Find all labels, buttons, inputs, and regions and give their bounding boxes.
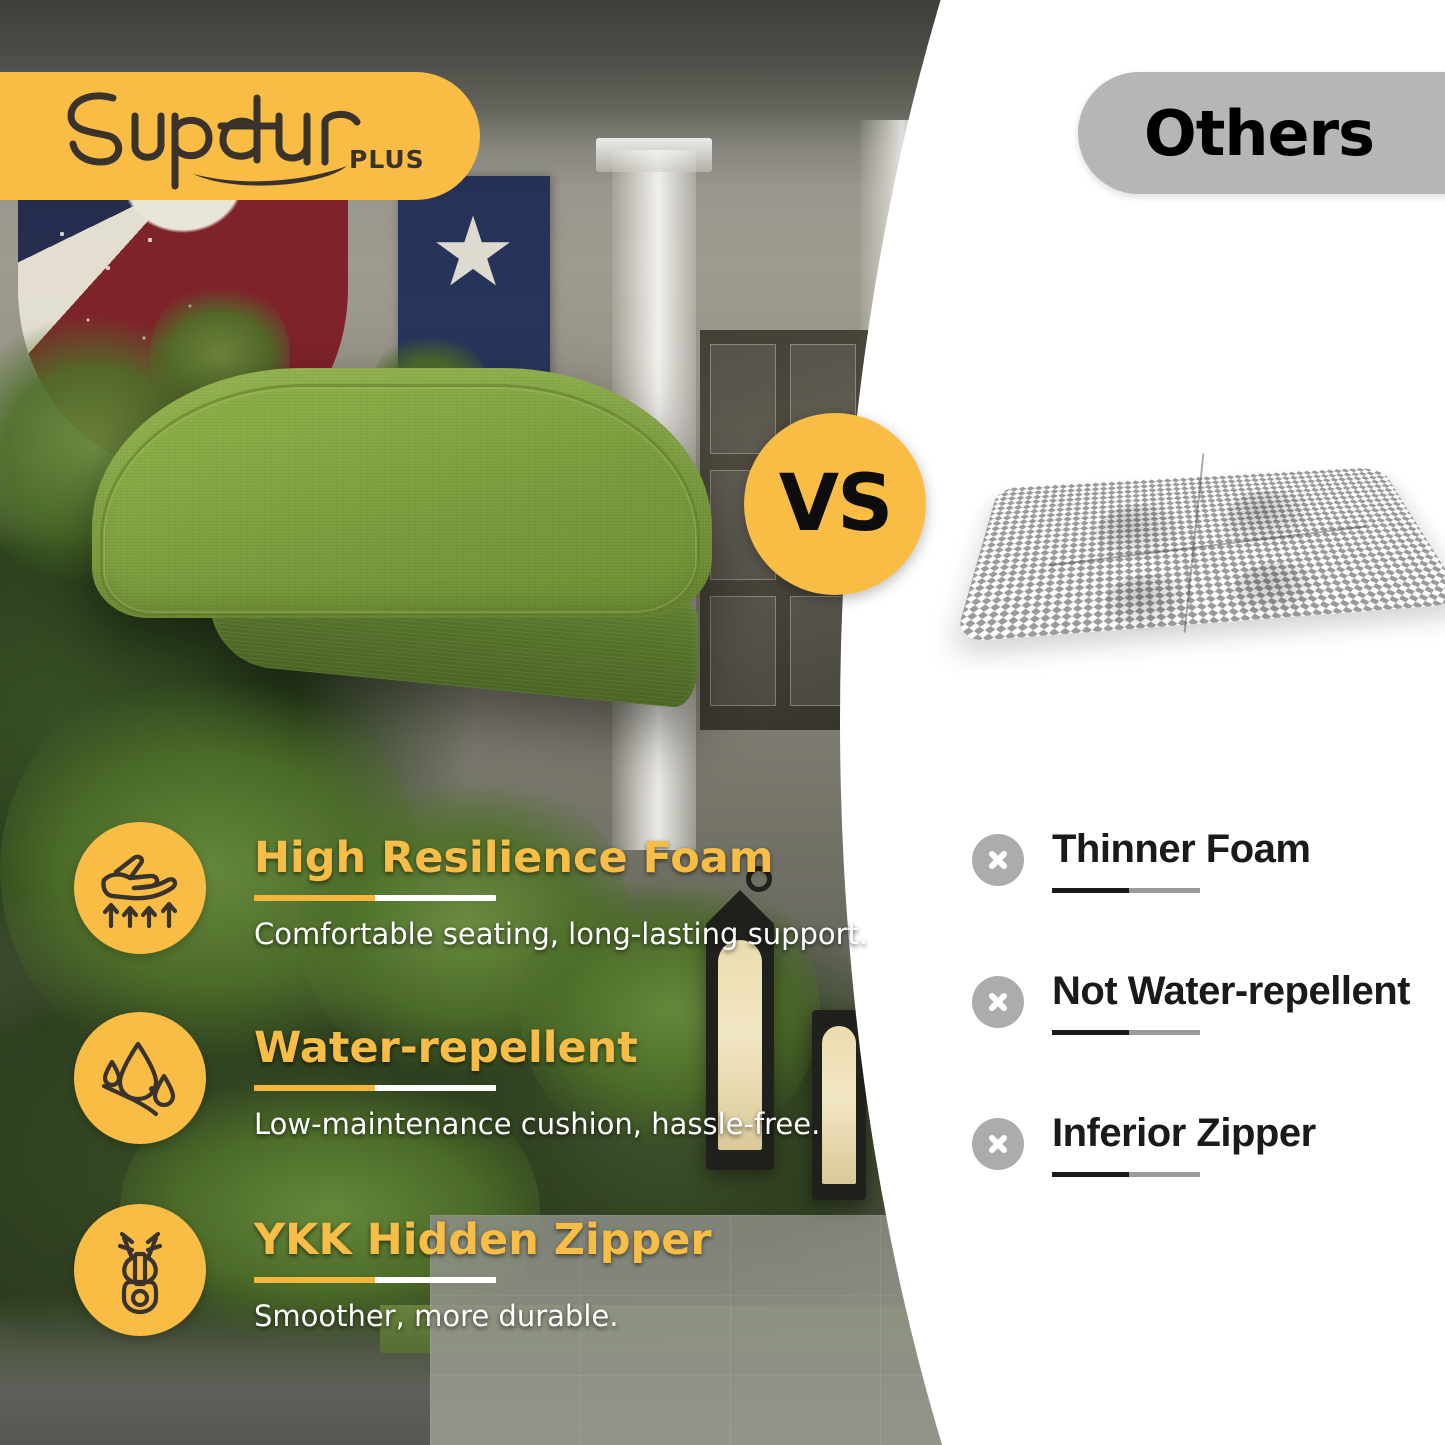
porch-column-capital (596, 138, 712, 172)
feature-title: YKK Hidden Zipper (254, 1218, 814, 1263)
vs-label: VS (779, 459, 892, 549)
feature-text-block: YKK Hidden Zipper Smoother, more durable… (254, 1204, 814, 1333)
feature-divider (254, 895, 496, 901)
supdur-plus-logo: PLUS (61, 82, 433, 190)
brand-logo-pill: PLUS (0, 72, 480, 200)
tuft (1105, 575, 1195, 633)
con-text-block: Inferior Zipper (1052, 1112, 1442, 1177)
feature-row-ykk-hidden-zipper: YKK Hidden Zipper Smoother, more durable… (74, 1204, 814, 1336)
hand-support-arrows-icon (74, 822, 206, 954)
vs-badge: VS (744, 413, 926, 595)
con-divider (1052, 1172, 1200, 1177)
zipper-icon (74, 1204, 206, 1336)
others-header-pill: Others (1078, 72, 1445, 194)
feature-title: High Resilience Foam (254, 836, 868, 881)
con-divider (1052, 888, 1200, 893)
feature-description: Comfortable seating, long-lasting suppor… (254, 917, 868, 951)
feature-text-block: Water-repellent Low-maintenance cushion,… (254, 1012, 820, 1141)
x-circle-icon (972, 1118, 1024, 1170)
feature-divider (254, 1085, 496, 1091)
con-title: Not Water-repellent (1052, 970, 1442, 1012)
texas-flag-star-icon: ★ (430, 205, 516, 301)
water-droplet-repellent-icon (74, 1012, 206, 1144)
svg-text:PLUS: PLUS (349, 145, 425, 174)
feature-description: Low-maintenance cushion, hassle-free. (254, 1107, 820, 1141)
feature-title: Water-repellent (254, 1026, 820, 1071)
con-row-not-water-repellent: Not Water-repellent (972, 970, 1442, 1035)
feature-row-high-resilience-foam: High Resilience Foam Comfortable seating… (74, 822, 814, 954)
infographic-canvas: ★ (0, 0, 1445, 1445)
con-text-block: Not Water-repellent (1052, 970, 1442, 1035)
con-divider (1052, 1030, 1200, 1035)
con-text-block: Thinner Foam (1052, 828, 1442, 893)
feature-text-block: High Resilience Foam Comfortable seating… (254, 822, 868, 951)
con-title: Thinner Foam (1052, 828, 1442, 870)
feature-description: Smoother, more durable. (254, 1299, 814, 1333)
con-row-inferior-zipper: Inferior Zipper (972, 1112, 1442, 1177)
feature-row-water-repellent: Water-repellent Low-maintenance cushion,… (74, 1012, 814, 1144)
con-title: Inferior Zipper (1052, 1112, 1442, 1154)
feature-divider (254, 1277, 496, 1283)
competitor-cushion-image (975, 395, 1445, 685)
x-circle-icon (972, 976, 1024, 1028)
tuft (1233, 563, 1323, 621)
cushion-piping (100, 384, 700, 616)
others-label: Others (1144, 97, 1374, 170)
x-circle-icon (972, 834, 1024, 886)
con-row-thinner-foam: Thinner Foam (972, 828, 1442, 893)
green-cushion-product-image (92, 368, 712, 698)
